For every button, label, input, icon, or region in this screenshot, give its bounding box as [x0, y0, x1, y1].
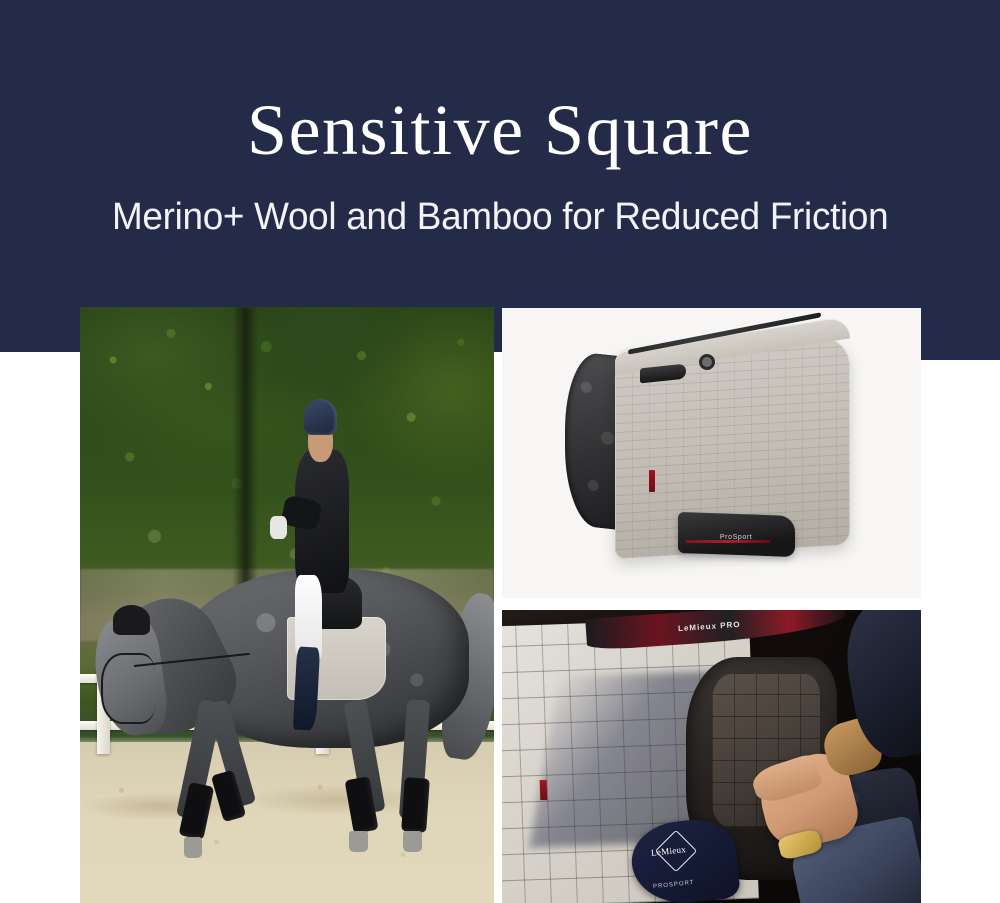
rider-photo: [80, 307, 494, 903]
page-title: Sensitive Square: [247, 94, 753, 167]
lemieux-red-label: [539, 780, 547, 800]
horse-brushing-boot-4: [401, 777, 430, 832]
horse-hoof-3: [349, 831, 368, 852]
horse-hoof-4: [403, 831, 422, 852]
tree-trunk: [233, 307, 258, 617]
lemieux-red-label: [649, 470, 655, 492]
hero-text-block: Sensitive Square Merino+ Wool and Bamboo…: [0, 0, 1000, 307]
product-studio-photo: ProSport: [502, 308, 921, 598]
page-subtitle: Merino+ Wool and Bamboo for Reduced Fric…: [112, 197, 888, 239]
sand-arena-footing: [80, 742, 494, 903]
fleece-detail-photo: LeMieux PRO LeMieux PROSPORT: [502, 610, 921, 903]
horse-ear-bonnet: [113, 605, 150, 635]
horse-hoof-1: [184, 837, 203, 858]
girth-panel-brand-text: ProSport: [720, 534, 752, 541]
rider-helmet: [304, 399, 337, 435]
rider-glove: [270, 516, 287, 540]
